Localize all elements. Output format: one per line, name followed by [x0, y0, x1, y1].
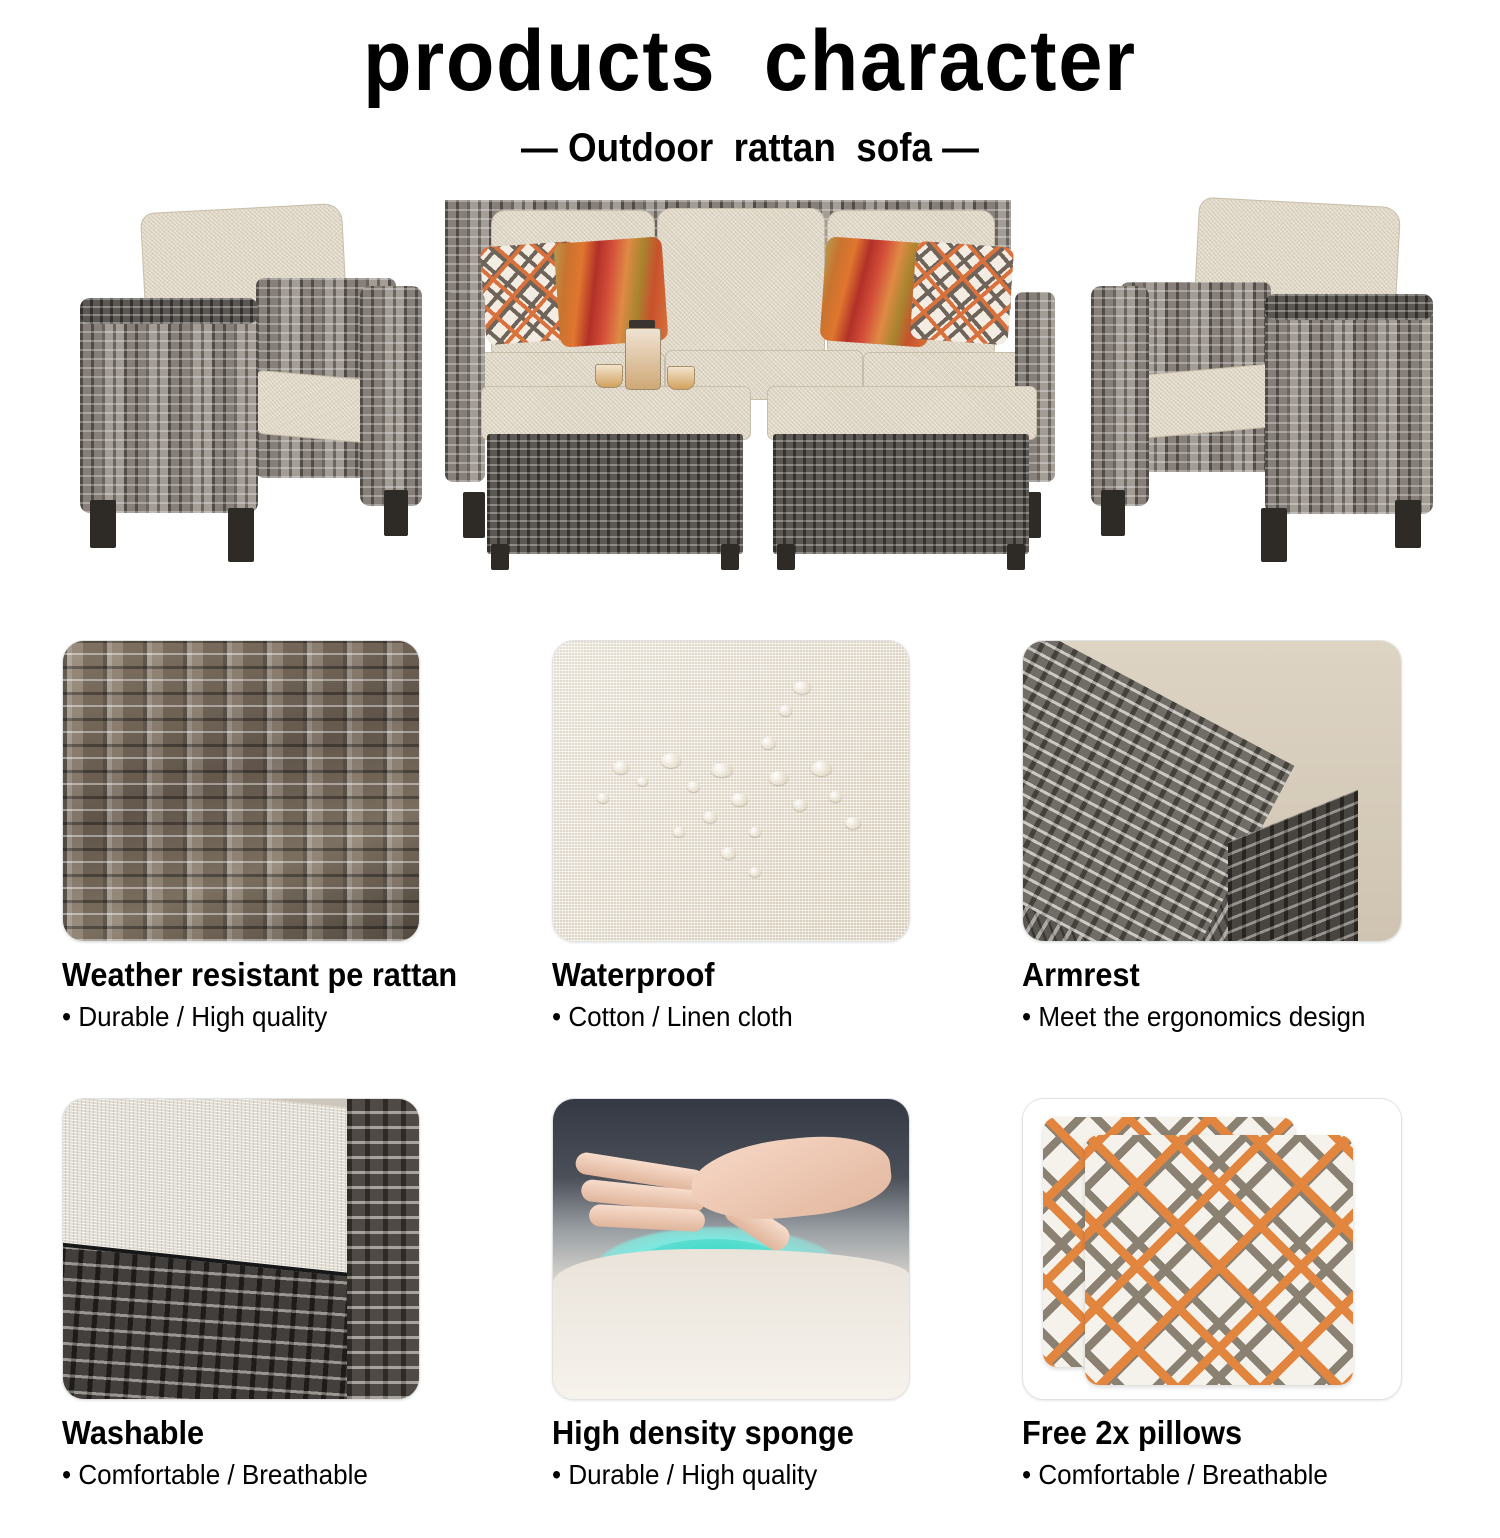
water-droplet: [613, 761, 629, 774]
washable-cushion: [62, 1098, 363, 1278]
water-droplet: [703, 811, 717, 823]
water-droplet: [769, 771, 788, 785]
water-droplet: [749, 867, 761, 877]
ottoman-right-cushion: [767, 386, 1037, 440]
page-title: products character: [60, 18, 1440, 104]
feature-bullet: • Comfortable / Breathable: [62, 1460, 395, 1489]
feature-row-2: Washable • Comfortable / Breathable High…: [0, 1098, 1500, 1538]
ottoman-left-base: [487, 434, 743, 554]
water-droplet: [779, 705, 792, 716]
page-subtitle: — Outdoor rattan sofa —: [60, 128, 1440, 168]
feature-row-1: Weather resistant pe rattan • Durable / …: [0, 640, 1500, 1080]
armchair-left-armrest-front: [80, 298, 258, 513]
feature-bullet: • Comfortable / Breathable: [1022, 1460, 1375, 1489]
water-droplet: [829, 791, 842, 802]
ottoman-right-leg-right: [1007, 544, 1025, 570]
sofa-armrest-left: [445, 292, 485, 482]
water-droplet: [637, 777, 648, 786]
foam-block: [553, 1249, 909, 1399]
water-droplet: [673, 827, 685, 837]
ottoman-right-leg-left: [777, 544, 795, 570]
armchair-left-armrest-top: [80, 298, 258, 324]
feature-card-armrest[interactable]: Armrest • Meet the ergonomics design: [1022, 640, 1402, 1031]
tea-cup-left: [595, 364, 623, 388]
armchair-left-leg-back: [384, 490, 408, 536]
feature-image-armrest: [1022, 640, 1402, 942]
armchair-right-leg-mid: [1261, 508, 1287, 562]
feature-card-high-density-sponge[interactable]: High density sponge • Durable / High qua…: [552, 1098, 910, 1489]
armchair-right-armrest-left: [1091, 286, 1149, 506]
feature-bullet: • Meet the ergonomics design: [1022, 1002, 1375, 1031]
feature-image-weather-resistant-pe-rattan: [62, 640, 420, 942]
ottoman-left-leg-right: [721, 544, 739, 570]
hand-graphic: [571, 1127, 881, 1247]
ottoman-left: [481, 386, 749, 566]
feature-card-waterproof[interactable]: Waterproof • Cotton / Linen cloth: [552, 640, 910, 1031]
water-droplet: [711, 763, 733, 777]
feature-card-free-2x-pillows[interactable]: Free 2x pillows • Comfortable / Breathab…: [1022, 1098, 1402, 1489]
armchair-right-leg-back: [1101, 490, 1125, 536]
tea-cup-right: [667, 366, 695, 390]
ottoman-right-base: [773, 434, 1029, 554]
feature-card-washable[interactable]: Washable • Comfortable / Breathable: [62, 1098, 420, 1489]
sofa-three-seat: [445, 200, 1055, 600]
water-droplet: [687, 781, 700, 792]
ottoman-right: [767, 386, 1035, 566]
water-droplet: [793, 799, 807, 811]
rattan-weave-texture: [63, 641, 419, 941]
feature-image-high-density-sponge: [552, 1098, 910, 1400]
water-droplet: [749, 827, 761, 837]
accent-pillow-diamond-right: [910, 241, 1015, 346]
armchair-left-armrest-right: [360, 286, 422, 506]
feature-image-washable: [62, 1098, 420, 1400]
water-droplet: [811, 761, 832, 776]
palm: [687, 1129, 894, 1227]
water-droplet: [731, 793, 748, 806]
linen-texture: [553, 641, 909, 941]
hero-product-image: [0, 190, 1500, 600]
feature-title: Waterproof: [552, 958, 885, 993]
teapot: [625, 328, 661, 390]
feature-bullet: • Cotton / Linen cloth: [552, 1002, 885, 1031]
feature-title: High density sponge: [552, 1416, 885, 1451]
tea-set: [595, 320, 725, 400]
feature-title: Weather resistant pe rattan: [62, 958, 457, 993]
feature-title: Washable: [62, 1416, 395, 1451]
feature-image-waterproof: [552, 640, 910, 942]
feature-card-weather-resistant-pe-rattan[interactable]: Weather resistant pe rattan • Durable / …: [62, 640, 487, 1031]
water-droplet: [761, 737, 776, 749]
feature-bullet: • Durable / High quality: [62, 1002, 457, 1031]
ottoman-left-leg-left: [491, 544, 509, 570]
armchair-right-armrest-front: [1265, 294, 1433, 514]
water-droplet: [793, 681, 811, 694]
armchair-left: [60, 190, 430, 590]
armchair-right: [1075, 190, 1445, 590]
feature-title: Armrest: [1022, 958, 1375, 993]
feature-grid: Weather resistant pe rattan • Durable / …: [0, 640, 1500, 1538]
armchair-right-leg-front: [1395, 500, 1421, 548]
header: products character — Outdoor rattan sofa…: [0, 0, 1500, 168]
armchair-left-leg-front: [90, 500, 116, 548]
finger: [589, 1204, 706, 1232]
washable-corner-post: [347, 1099, 419, 1399]
armchair-right-armrest-top: [1265, 294, 1433, 320]
feature-image-free-2x-pillows: [1022, 1098, 1402, 1400]
water-droplet: [845, 817, 861, 829]
water-droplet: [721, 847, 736, 859]
water-droplet: [661, 753, 681, 768]
water-droplet: [597, 793, 609, 803]
armchair-left-leg-mid: [228, 508, 254, 562]
feature-title: Free 2x pillows: [1022, 1416, 1375, 1451]
feature-bullet: • Durable / High quality: [552, 1460, 885, 1489]
throw-pillow-front: [1085, 1135, 1353, 1385]
